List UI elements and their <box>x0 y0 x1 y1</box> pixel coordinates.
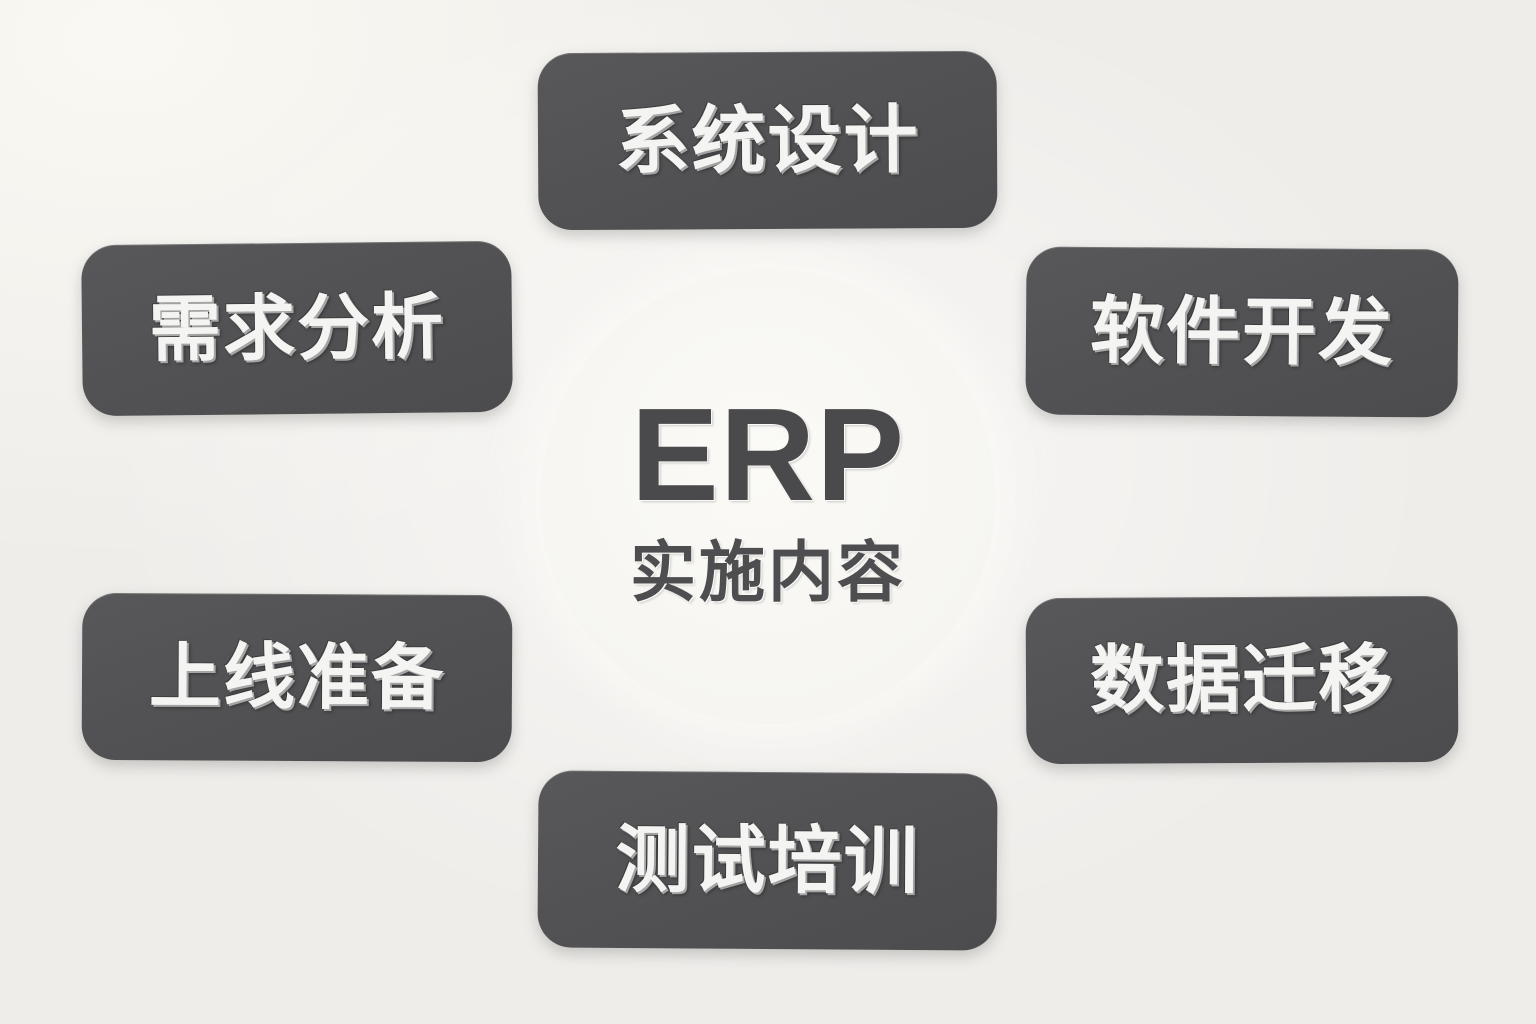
node-software-development[interactable]: 软件开发 <box>1025 246 1458 417</box>
node-label: 软件开发 <box>1090 294 1395 370</box>
node-label: 数据迁移 <box>1090 642 1394 718</box>
node-testing-training[interactable]: 测试培训 <box>537 770 997 950</box>
node-golive-preparation[interactable]: 上线准备 <box>82 593 513 762</box>
node-data-migration[interactable]: 数据迁移 <box>1026 596 1459 764</box>
node-requirements-analysis[interactable]: 需求分析 <box>81 241 513 416</box>
diagram-canvas: ERP 实施内容 系统设计 需求分析 软件开发 上线准备 数据迁移 测试培训 <box>0 0 1536 1024</box>
hub-subtitle: 实施内容 <box>630 539 906 605</box>
node-system-design[interactable]: 系统设计 <box>538 51 998 230</box>
hub-circle: ERP 实施内容 <box>541 270 995 724</box>
node-label: 上线准备 <box>149 641 445 715</box>
hub-title: ERP <box>631 389 905 521</box>
node-label: 测试培训 <box>615 822 920 898</box>
node-label: 系统设计 <box>615 103 919 179</box>
node-label: 需求分析 <box>149 291 446 366</box>
